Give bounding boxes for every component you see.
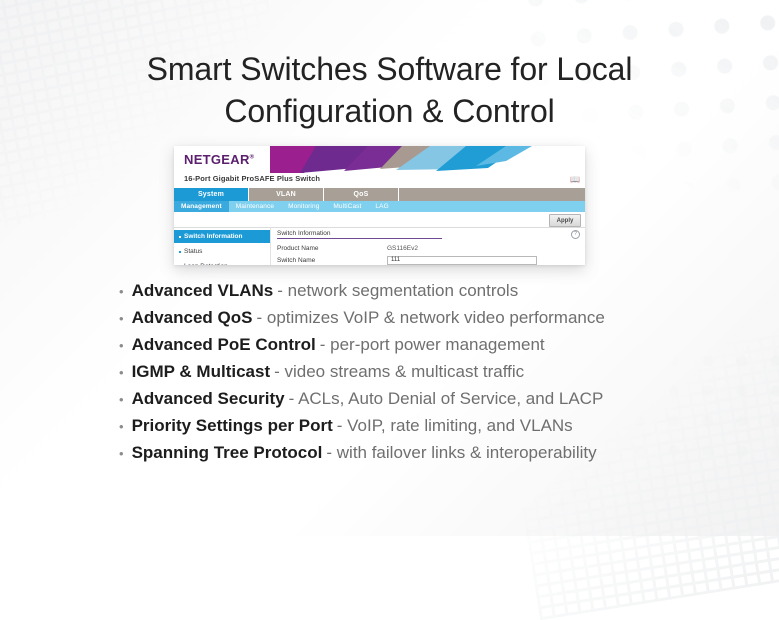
- field-label: Product Name: [277, 245, 387, 252]
- feature-description: - ACLs, Auto Denial of Service, and LACP: [289, 389, 604, 409]
- switch-model-label: 16-Port Gigabit ProSAFE Plus Switch: [184, 174, 320, 183]
- registered-mark: ®: [250, 155, 255, 161]
- switch-information-panel: Switch Information ? Product Name GS116E…: [271, 228, 585, 265]
- field-row-product-name: Product Name GS116Ev2: [277, 242, 579, 254]
- subtab-monitoring[interactable]: Monitoring: [281, 201, 326, 212]
- primary-tabs-filler: [399, 188, 585, 201]
- feature-description: - network segmentation controls: [277, 281, 518, 301]
- switch-primary-tabs: System VLAN QoS: [174, 188, 585, 201]
- feature-term: Advanced VLANs: [132, 281, 274, 301]
- switch-body: Switch Information Status Loop Detection…: [174, 228, 585, 265]
- list-item: • Advanced PoE Control - per-port power …: [119, 335, 719, 362]
- bullet-square-icon: [179, 251, 181, 253]
- slide-title-line-2: Configuration & Control: [0, 90, 779, 132]
- switch-model-bar: 16-Port Gigabit ProSAFE Plus Switch 📖: [174, 173, 585, 188]
- feature-description: - with failover links & interoperability: [326, 443, 596, 463]
- feature-term: Spanning Tree Protocol: [132, 443, 323, 463]
- list-item: • Advanced Security - ACLs, Auto Denial …: [119, 389, 719, 416]
- tab-vlan[interactable]: VLAN: [249, 188, 324, 201]
- help-icon[interactable]: ?: [571, 230, 580, 239]
- list-item: • Advanced VLANs - network segmentation …: [119, 281, 719, 308]
- switch-name-input[interactable]: 111: [387, 256, 537, 265]
- subtab-management[interactable]: Management: [174, 201, 229, 212]
- feature-term: Advanced PoE Control: [132, 335, 316, 355]
- subtab-lag[interactable]: LAG: [368, 201, 395, 212]
- field-label: Switch Name: [277, 257, 387, 264]
- feature-description: - VoIP, rate limiting, and VLANs: [337, 416, 573, 436]
- sidebar-item-label: Switch Information: [184, 233, 243, 240]
- field-row-switch-name: Switch Name 111: [277, 254, 579, 265]
- feature-description: - per-port power management: [320, 335, 545, 355]
- bullet-icon: •: [119, 285, 124, 298]
- tab-qos[interactable]: QoS: [324, 188, 399, 201]
- bullet-icon: •: [119, 339, 124, 352]
- subtab-multicast[interactable]: MultiCast: [326, 201, 368, 212]
- list-item: • Priority Settings per Port - VoIP, rat…: [119, 416, 719, 443]
- feature-term: IGMP & Multicast: [132, 362, 271, 382]
- sidebar-item-status[interactable]: Status: [174, 245, 270, 258]
- feature-term: Priority Settings per Port: [132, 416, 333, 436]
- bullet-icon: •: [119, 366, 124, 379]
- switch-sidebar: Switch Information Status Loop Detection: [174, 228, 271, 265]
- field-value-product-name: GS116Ev2: [387, 245, 418, 252]
- book-icon[interactable]: 📖: [570, 176, 578, 184]
- bullet-icon: •: [119, 447, 124, 460]
- feature-term: Advanced QoS: [132, 308, 253, 328]
- netgear-logo-text: NETGEAR: [184, 152, 250, 167]
- netgear-swoosh-graphic: [270, 146, 585, 173]
- bullet-icon: •: [119, 393, 124, 406]
- bullet-icon: •: [119, 312, 124, 325]
- switch-ui-screenshot: NETGEAR® 16-Port Gigabit ProSAFE Plus Sw…: [174, 146, 585, 265]
- feature-list: • Advanced VLANs - network segmentation …: [119, 281, 719, 470]
- switch-secondary-tabs: Management Maintenance Monitoring MultiC…: [174, 201, 585, 212]
- panel-title: Switch Information: [277, 230, 442, 239]
- switch-ui-header: NETGEAR®: [174, 146, 585, 173]
- subtab-maintenance[interactable]: Maintenance: [229, 201, 281, 212]
- netgear-logo: NETGEAR®: [184, 152, 254, 167]
- feature-description: - video streams & multicast traffic: [274, 362, 524, 382]
- slide-title-line-1: Smart Switches Software for Local: [0, 48, 779, 90]
- apply-button[interactable]: Apply: [549, 214, 581, 227]
- bullet-square-icon: [179, 236, 181, 238]
- feature-term: Advanced Security: [132, 389, 285, 409]
- feature-description: - optimizes VoIP & network video perform…: [256, 308, 604, 328]
- tab-system[interactable]: System: [174, 188, 249, 201]
- switch-apply-row: Apply: [174, 212, 585, 228]
- sidebar-item-label: Loop Detection: [184, 263, 228, 265]
- slide-content: Smart Switches Software for Local Config…: [0, 0, 779, 536]
- secondary-tabs-filler: [396, 201, 585, 212]
- list-item: • Spanning Tree Protocol - with failover…: [119, 443, 719, 470]
- sidebar-item-label: Status: [184, 248, 202, 255]
- slide-title: Smart Switches Software for Local Config…: [0, 48, 779, 132]
- sidebar-item-loop-detection[interactable]: Loop Detection: [174, 260, 270, 265]
- sidebar-item-switch-information[interactable]: Switch Information: [174, 230, 270, 243]
- list-item: • IGMP & Multicast - video streams & mul…: [119, 362, 719, 389]
- bullet-icon: •: [119, 420, 124, 433]
- list-item: • Advanced QoS - optimizes VoIP & networ…: [119, 308, 719, 335]
